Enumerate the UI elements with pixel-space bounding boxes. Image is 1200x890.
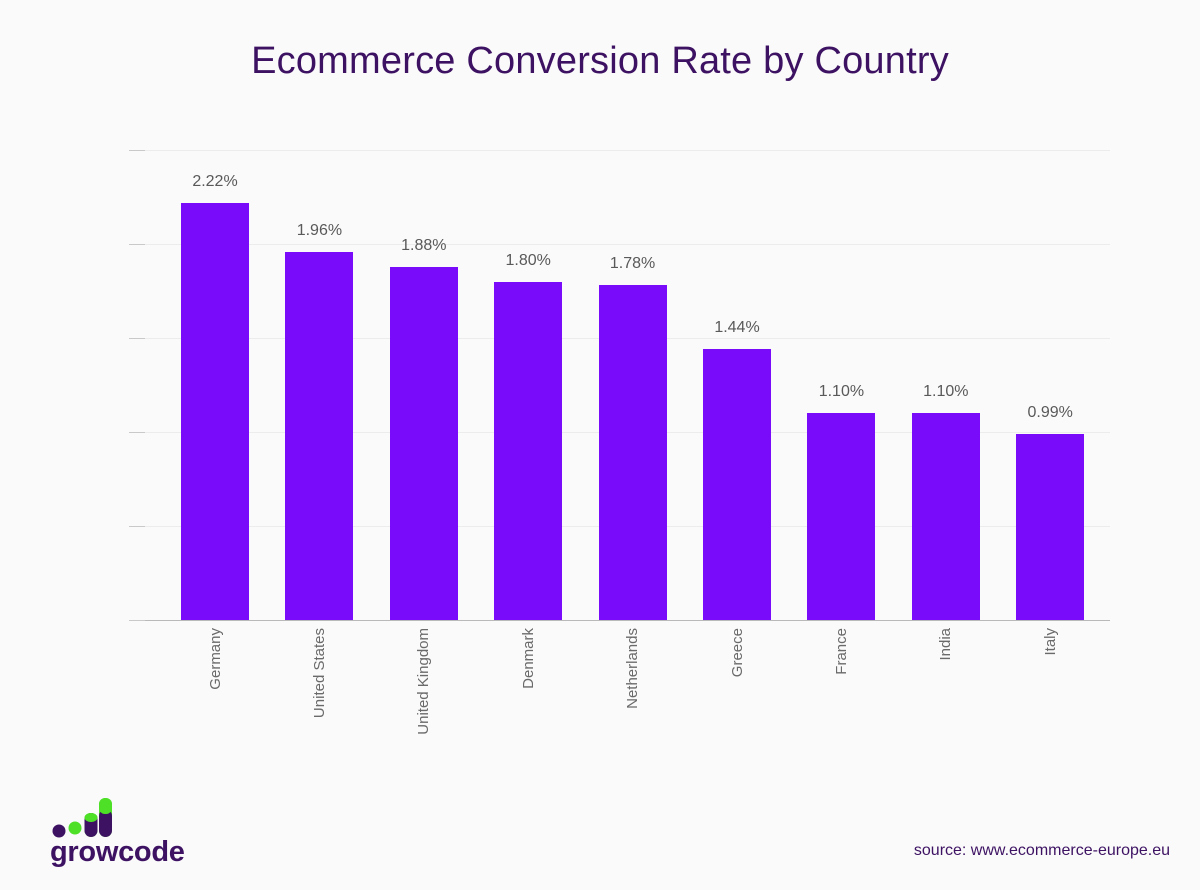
bar-group[interactable]: 0.99%	[1016, 150, 1084, 620]
x-axis-tick-label-text: Greece	[729, 628, 746, 677]
bar-group[interactable]: 1.88%	[390, 150, 458, 620]
growth-bars-icon	[52, 796, 112, 838]
source-note: source: www.ecommerce-europe.eu	[914, 842, 1170, 860]
bar[interactable]	[181, 203, 249, 620]
bar-value-label: 1.80%	[506, 252, 551, 270]
bar-group[interactable]: 1.96%	[285, 150, 353, 620]
bar-group[interactable]: 1.10%	[912, 150, 980, 620]
plot-area: 0.00%0.50%1.00%1.50%2.00%2.50%2.22%1.96%…	[145, 150, 1110, 620]
x-axis-tick-label-text: Denmark	[520, 628, 537, 689]
bar-value-label: 1.78%	[610, 255, 655, 273]
y-tick-mark	[129, 244, 145, 245]
bar-group[interactable]: 2.22%	[181, 150, 249, 620]
bar-group[interactable]: 1.80%	[494, 150, 562, 620]
x-axis-tick-label: United Kingdom	[390, 628, 458, 768]
x-axis-tick-label: India	[912, 628, 980, 768]
x-axis-tick-label: Germany	[181, 628, 249, 768]
bar-group[interactable]: 1.44%	[703, 150, 771, 620]
growcode-logo: growcode	[50, 796, 260, 868]
chart-title: Ecommerce Conversion Rate by Country	[0, 40, 1200, 83]
y-tick-mark	[129, 150, 145, 151]
y-tick-mark	[129, 338, 145, 339]
bar[interactable]	[1016, 434, 1084, 620]
bar-group[interactable]: 1.78%	[599, 150, 667, 620]
bar-value-label: 1.10%	[819, 383, 864, 401]
bar[interactable]	[494, 282, 562, 620]
bar[interactable]	[703, 349, 771, 620]
bar-value-label: 1.96%	[297, 222, 342, 240]
x-axis-tick-label: Italy	[1016, 628, 1084, 768]
bar-value-label: 2.22%	[192, 173, 237, 191]
bar[interactable]	[807, 413, 875, 620]
x-axis-tick-label: Greece	[703, 628, 771, 768]
bar-value-label: 1.44%	[714, 319, 759, 337]
bar[interactable]	[912, 413, 980, 620]
bar-value-label: 1.10%	[923, 383, 968, 401]
x-axis-tick-label: United States	[285, 628, 353, 768]
x-axis-tick-label-text: United Kingdom	[415, 628, 432, 735]
x-axis-tick-label-text: Germany	[207, 628, 224, 690]
logo-wordmark: growcode	[50, 836, 185, 869]
bar-value-label: 1.88%	[401, 237, 446, 255]
axis-baseline	[145, 620, 1110, 621]
x-axis-tick-label: Netherlands	[599, 628, 667, 768]
y-tick-mark	[129, 620, 145, 621]
x-axis-tick-label: France	[807, 628, 875, 768]
bar[interactable]	[285, 252, 353, 620]
y-tick-mark	[129, 432, 145, 433]
x-axis-tick-label-text: United States	[311, 628, 328, 718]
x-axis-labels: GermanyUnited StatesUnited KingdomDenmar…	[145, 628, 1110, 768]
chart-container: Ecommerce Conversion Rate by Country 0.0…	[0, 0, 1200, 890]
bar-value-label: 0.99%	[1028, 404, 1073, 422]
x-axis-tick-label-text: India	[937, 628, 954, 661]
x-axis-tick-label-text: Netherlands	[624, 628, 641, 709]
bar[interactable]	[390, 267, 458, 620]
x-axis-tick-label-text: France	[833, 628, 850, 675]
bar-group[interactable]: 1.10%	[807, 150, 875, 620]
y-tick-mark	[129, 526, 145, 527]
x-axis-tick-label-text: Italy	[1042, 628, 1059, 656]
x-axis-tick-label: Denmark	[494, 628, 562, 768]
bar[interactable]	[599, 285, 667, 620]
